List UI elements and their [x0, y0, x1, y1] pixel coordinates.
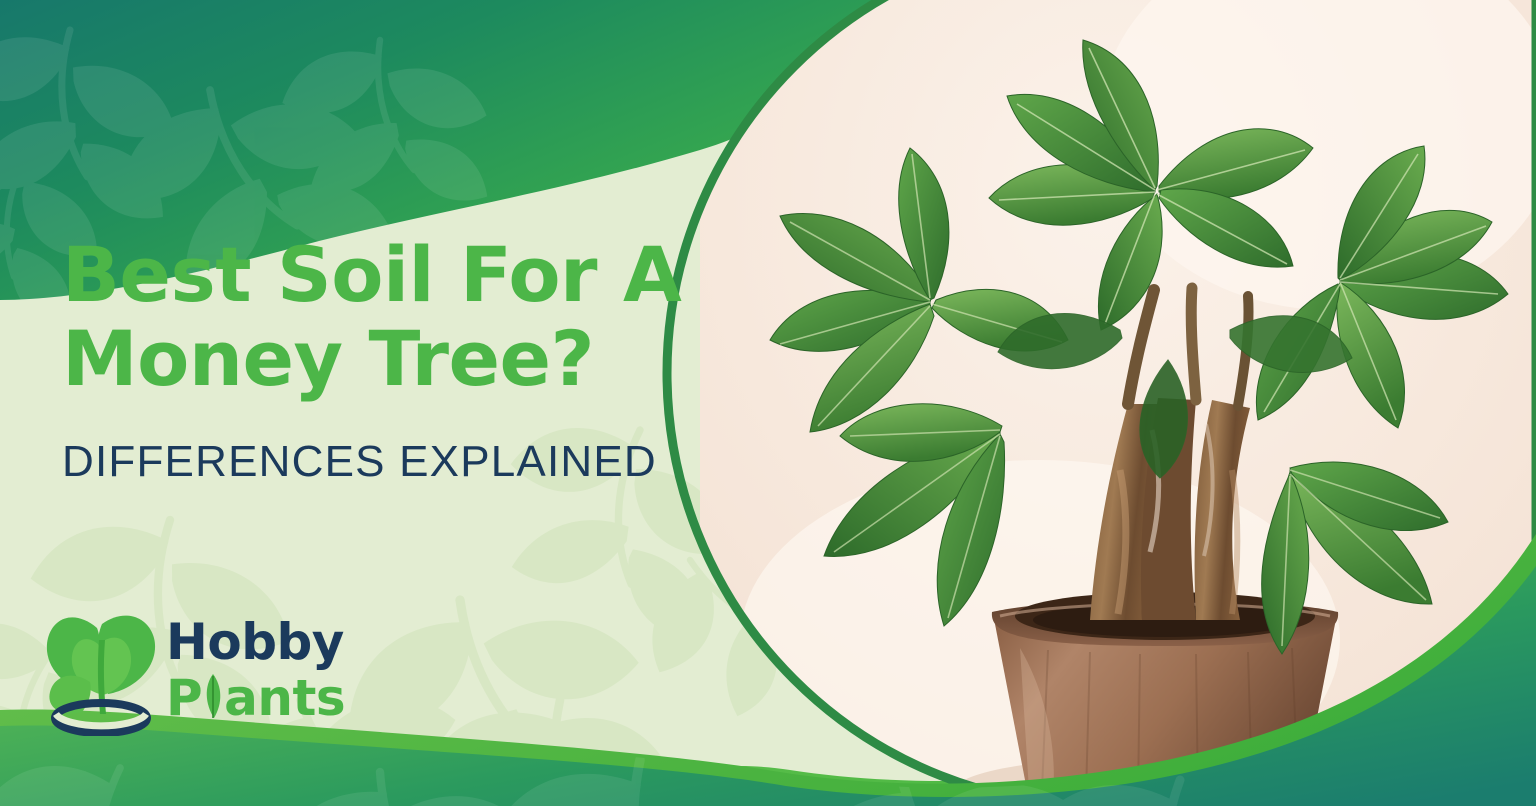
leaf-icon: [203, 673, 223, 719]
brand-logo[interactable]: Hobby P ants: [42, 600, 362, 740]
headline-line-2: Money Tree?: [62, 322, 722, 396]
logo-text-plants-prefix: P: [166, 673, 202, 723]
sprout-in-pot-icon: [42, 604, 160, 736]
subtitle: DIFFERENCES EXPLAINED: [62, 437, 722, 487]
featured-image-banner: Best Soil For A Money Tree? DIFFERENCES …: [0, 0, 1536, 806]
logo-wordmark: Hobby P ants: [166, 617, 345, 723]
headline-block: Best Soil For A Money Tree? DIFFERENCES …: [62, 238, 722, 487]
logo-text-plants-suffix: ants: [224, 673, 345, 723]
logo-text-hobby: Hobby: [166, 617, 345, 667]
headline-line-1: Best Soil For A: [62, 238, 722, 312]
logo-text-plants-row: P ants: [166, 669, 345, 723]
